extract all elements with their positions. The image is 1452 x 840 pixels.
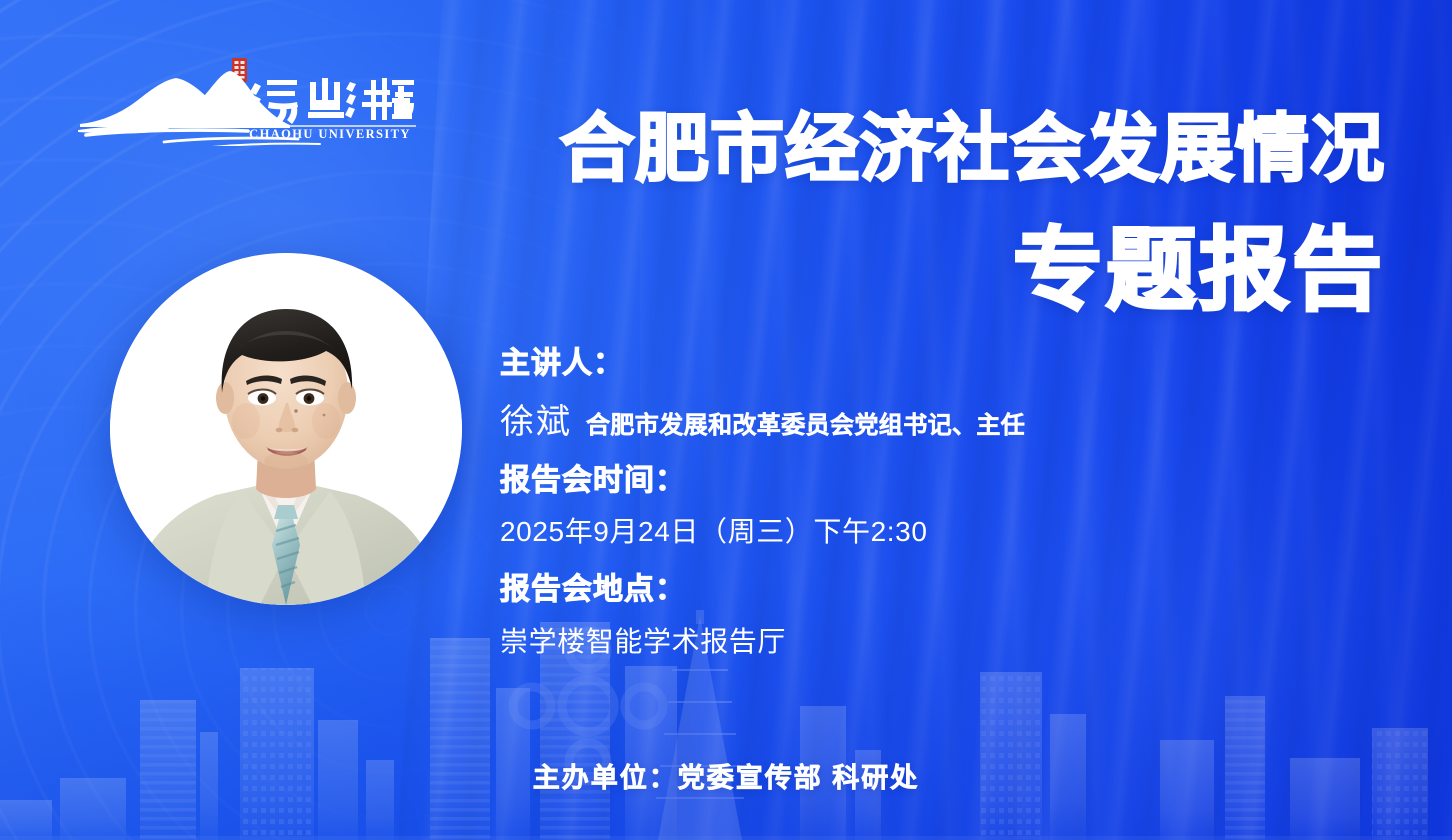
event-details: 主讲人： 徐斌 合肥市发展和改革委员会党组书记、主任 报告会时间： 2025年9…	[500, 344, 1260, 680]
speaker-row: 徐斌 合肥市发展和改革委员会党组书记、主任	[500, 394, 1260, 443]
speaker-label: 主讲人：	[500, 344, 1260, 384]
time-label: 报告会时间：	[500, 461, 1260, 501]
portrait-artwork	[110, 253, 462, 605]
speaker-portrait	[110, 253, 462, 605]
logo-name-en: CHAOHU UNIVERSITY	[249, 127, 411, 141]
place-label: 报告会地点：	[500, 570, 1260, 610]
speaker-name: 徐斌	[500, 394, 572, 443]
chaohu-university-logo[interactable]: CHAOHU UNIVERSITY	[72, 56, 417, 146]
logo-artwork: CHAOHU UNIVERSITY	[72, 56, 417, 146]
time-value: 2025年9月24日（周三）下午2:30	[500, 510, 1260, 550]
place-value: 崇学楼智能学术报告厅	[500, 620, 1260, 660]
speaker-title: 合肥市发展和改革委员会党组书记、主任	[586, 405, 1025, 440]
poster-canvas: CHAOHU UNIVERSITY	[0, 0, 1452, 840]
